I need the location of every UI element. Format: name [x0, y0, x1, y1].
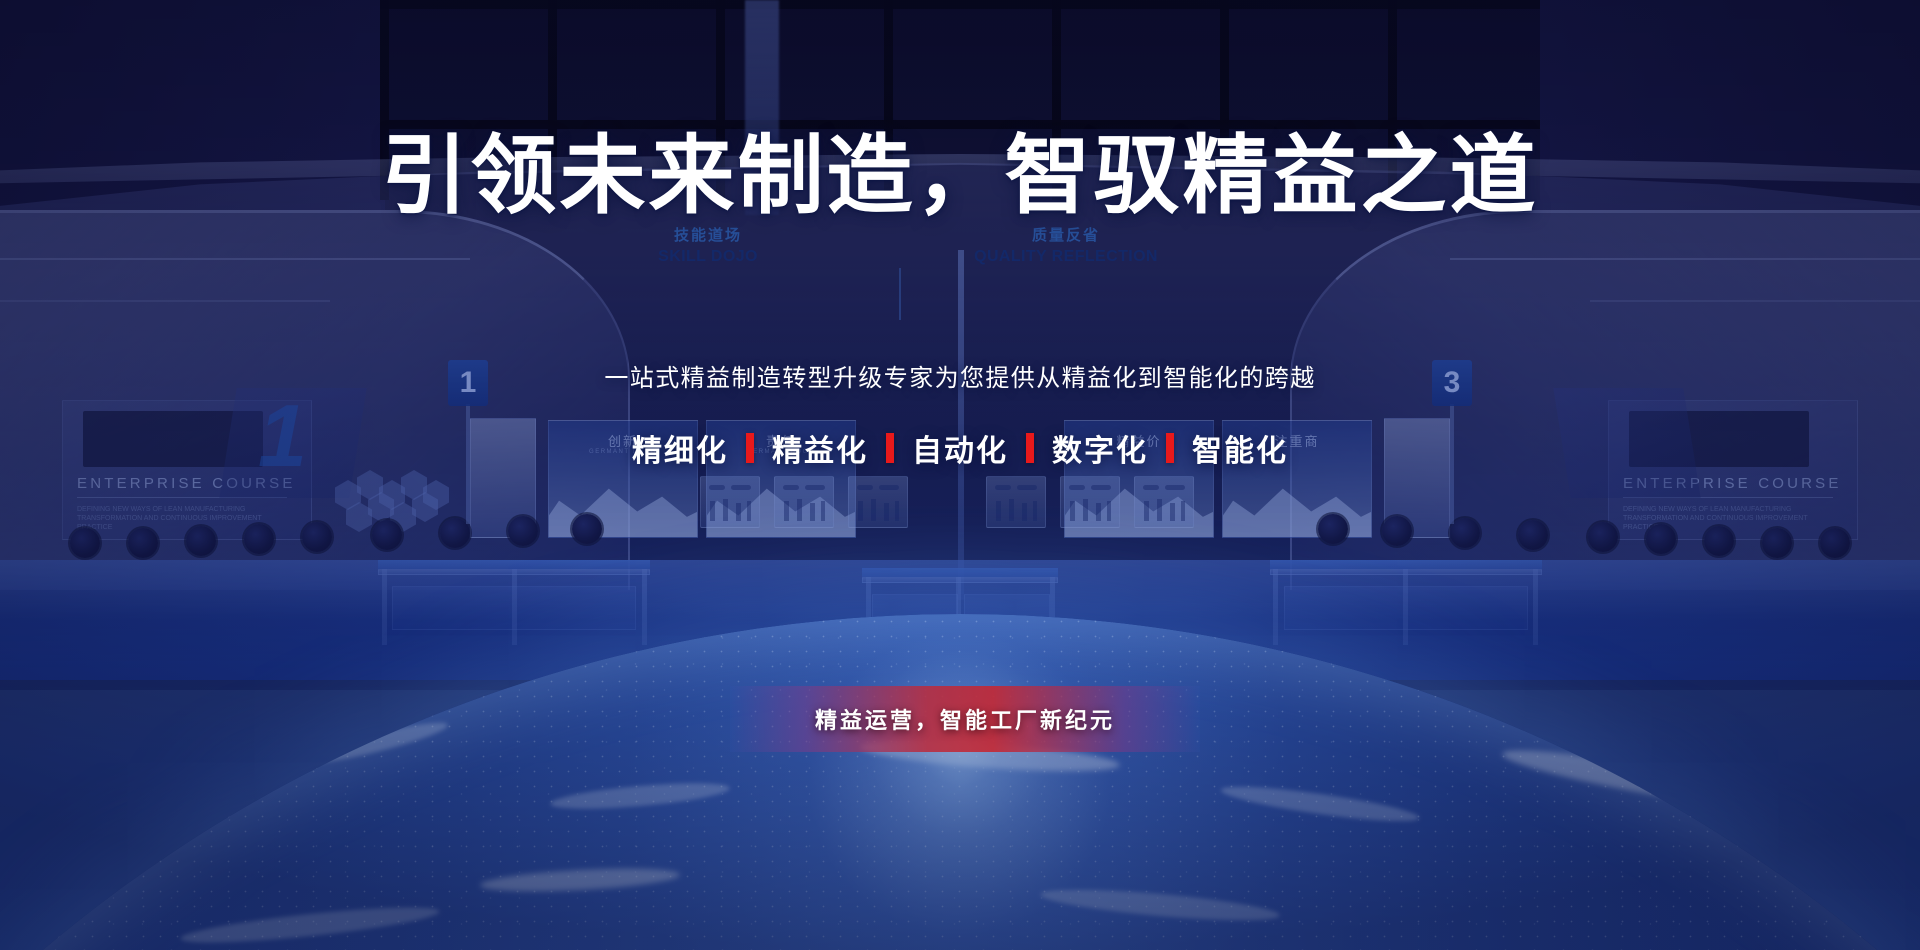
page-title: 引领未来制造，智驭精益之道 — [0, 128, 1920, 224]
earth-globe — [0, 614, 1920, 950]
keyword-separator-icon — [886, 433, 894, 463]
sign-quality-reflection: 质量反省 QUALITY REFLECTION — [926, 226, 1206, 268]
keyword-item: 自动化 — [894, 426, 1026, 470]
sign-skill-dojo-cn: 技能道场 — [598, 226, 818, 246]
center-divider-column — [958, 250, 964, 600]
keyword-separator-icon — [1166, 433, 1174, 463]
floor-sheen — [0, 560, 1920, 620]
banner-stage: ENTERPRISE COURSE DEFINING NEW WAYS OF L… — [0, 0, 1920, 950]
bottom-tagline-text: 精益运营，智能工厂新纪元 — [815, 703, 1115, 735]
sign-skill-dojo-en: SKILL DOJO — [598, 246, 818, 268]
bottom-tagline-banner: 精益运营，智能工厂新纪元 — [730, 686, 1200, 752]
keyword-separator-icon — [1026, 433, 1034, 463]
keyword-item: 数字化 — [1034, 426, 1166, 470]
soffit-line-right-2 — [1590, 300, 1920, 302]
soffit-line-right — [1450, 258, 1920, 260]
keyword-list: 精细化 精益化 自动化 数字化 智能化 — [0, 426, 1920, 470]
keyword-item: 精细化 — [614, 426, 746, 470]
keyword-item: 智能化 — [1174, 426, 1306, 470]
soffit-line-left-2 — [0, 300, 330, 302]
banner-subtitle: 一站式精益制造转型升级专家为您提供从精益化到智能化的跨越 — [0, 358, 1920, 393]
poster-mountain-shape — [548, 470, 698, 537]
sign-quality-reflection-cn: 质量反省 — [926, 226, 1206, 246]
poster-mountain-shape-3 — [1222, 470, 1372, 537]
keyword-item: 精益化 — [754, 426, 886, 470]
sign-skill-dojo: 技能道场 SKILL DOJO — [598, 226, 818, 268]
sign-quality-reflection-en: QUALITY REFLECTION — [926, 246, 1206, 268]
sign-divider — [899, 268, 901, 320]
keyword-separator-icon — [746, 433, 754, 463]
soffit-line-left — [0, 258, 470, 260]
